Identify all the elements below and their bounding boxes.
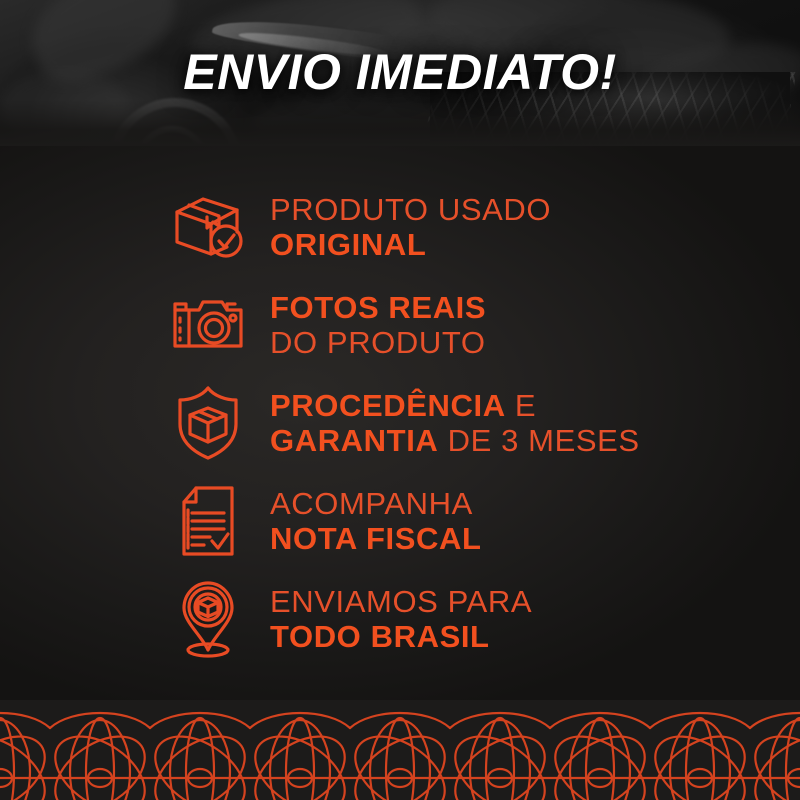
feature-line-1-thin: PRODUTO USADO (270, 192, 551, 227)
feature-line-2-thin: DE 3 MESES (438, 423, 639, 458)
feature-line-2: DO PRODUTO (270, 325, 486, 360)
feature-line-2-thin: DO PRODUTO (270, 325, 486, 360)
feature-line-1-thin: E (506, 388, 537, 423)
feature-line-2: NOTA FISCAL (270, 521, 482, 556)
banner-header: ENVIO IMEDIATO! (0, 0, 800, 146)
document-check-icon (168, 481, 248, 561)
feature-row: PRODUTO USADO ORIGINAL (0, 178, 800, 276)
feature-text: ENVIAMOS PARA TODO BRASIL (270, 584, 532, 654)
feature-row: FOTOS REAIS DO PRODUTO (0, 276, 800, 374)
feature-line-1: FOTOS REAIS (270, 290, 486, 325)
feature-line-2-bold: TODO BRASIL (270, 619, 490, 654)
feature-line-1-bold: PROCEDÊNCIA (270, 388, 506, 423)
feature-line-1: PROCEDÊNCIA E (270, 388, 640, 423)
banner-title: ENVIO IMEDIATO! (0, 44, 800, 100)
box-check-icon (168, 187, 248, 267)
feature-line-2: GARANTIA DE 3 MESES (270, 423, 640, 458)
shield-box-icon (168, 383, 248, 463)
feature-line-2-bold: GARANTIA (270, 423, 438, 458)
feature-row: ACOMPANHA NOTA FISCAL (0, 472, 800, 570)
feature-text: PROCEDÊNCIA E GARANTIA DE 3 MESES (270, 388, 640, 458)
header-fade-overlay (0, 100, 800, 146)
feature-line-1: PRODUTO USADO (270, 192, 551, 227)
feature-row: PROCEDÊNCIA E GARANTIA DE 3 MESES (0, 374, 800, 472)
feature-text: FOTOS REAIS DO PRODUTO (270, 290, 486, 360)
feature-line-1: ACOMPANHA (270, 486, 482, 521)
feature-line-1-thin: ACOMPANHA (270, 486, 473, 521)
feature-line-2-bold: NOTA FISCAL (270, 521, 482, 556)
promo-banner: ENVIO IMEDIATO! PRODUTO US (0, 0, 800, 800)
feature-line-2-bold: ORIGINAL (270, 227, 426, 262)
camera-icon (168, 285, 248, 365)
feature-line-1: ENVIAMOS PARA (270, 584, 532, 619)
feature-line-2: TODO BRASIL (270, 619, 532, 654)
feature-line-2: ORIGINAL (270, 227, 551, 262)
feature-text: ACOMPANHA NOTA FISCAL (270, 486, 482, 556)
bottom-ornament-pattern (0, 700, 800, 800)
feature-list: PRODUTO USADO ORIGINAL (0, 178, 800, 668)
feature-line-1-bold: FOTOS REAIS (270, 290, 486, 325)
feature-text: PRODUTO USADO ORIGINAL (270, 192, 551, 262)
feature-line-1-thin: ENVIAMOS PARA (270, 584, 532, 619)
feature-row: ENVIAMOS PARA TODO BRASIL (0, 570, 800, 668)
map-pin-box-icon (168, 579, 248, 659)
